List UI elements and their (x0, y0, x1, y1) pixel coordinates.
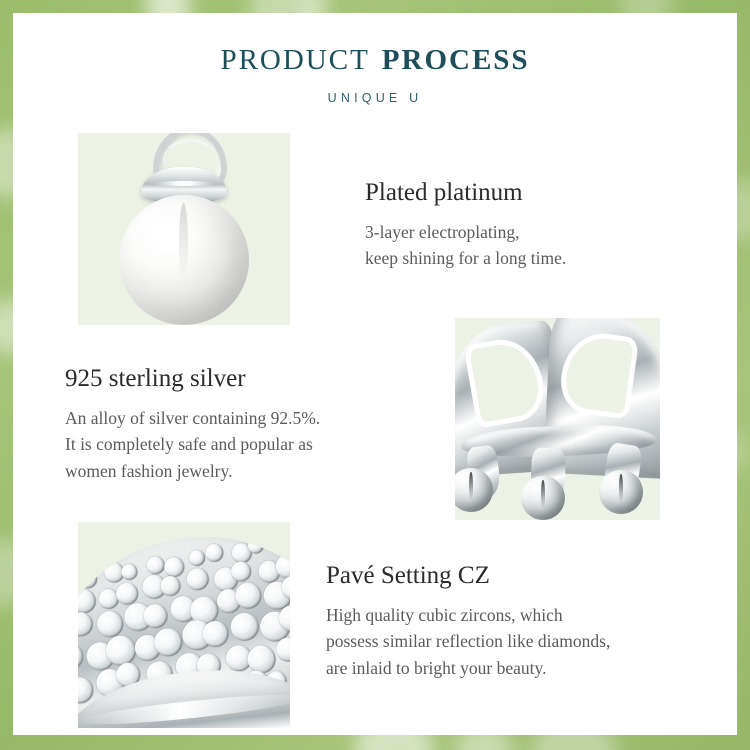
feature-body-line: women fashion jewelry. (65, 458, 320, 485)
page-title-product: PRODUCT (220, 44, 369, 76)
feature-body-line: It is completely safe and popular as (65, 431, 320, 458)
feature-image-sterling-silver (455, 318, 660, 520)
cz-stone (188, 549, 207, 568)
feature-text-plated-platinum: Plated platinum 3-layer electroplating, … (365, 179, 566, 272)
cz-stone (163, 555, 186, 578)
product-process-infographic: PRODUCTPROCESS UNIQUE U (0, 0, 750, 750)
feature-body-line: An alloy of silver containing 92.5%. (65, 405, 320, 432)
pave-artwork (78, 522, 290, 728)
charm-bead-left-shape (455, 468, 493, 512)
charm-bead-middle-shape (521, 476, 565, 520)
charm-bead-right-shape (599, 470, 643, 514)
feature-body-line: possess similar reflection like diamonds… (326, 628, 610, 655)
cz-stone (78, 569, 99, 590)
pearl-shape (119, 195, 249, 325)
page-title: PRODUCTPROCESS (13, 46, 737, 75)
cz-stone (273, 535, 290, 556)
feature-heading: 925 sterling silver (65, 365, 320, 393)
cz-stone (120, 563, 139, 582)
feature-heading: Pavé Setting CZ (326, 562, 610, 590)
cz-stone (145, 555, 166, 576)
feature-body-line: keep shining for a long time. (365, 245, 566, 272)
cz-stone (185, 566, 210, 591)
feature-body-line: High quality cubic zircons, which (326, 602, 610, 629)
feature-image-pave-setting-cz (78, 522, 290, 728)
feature-body-line: 3-layer electroplating, (365, 219, 566, 246)
feature-body-line: are inlaid to bright your beauty. (326, 655, 610, 682)
cz-stone (228, 611, 260, 643)
content-card: PRODUCTPROCESS UNIQUE U (13, 13, 737, 735)
feature-heading: Plated platinum (365, 179, 566, 207)
cz-stone (78, 610, 95, 638)
header: PRODUCTPROCESS UNIQUE U (13, 13, 737, 105)
feature-image-plated-platinum (78, 133, 290, 325)
page-title-process: PROCESS (382, 44, 530, 76)
page-subtitle: UNIQUE U (13, 91, 737, 105)
cz-stone (204, 542, 225, 563)
feature-text-sterling-silver: 925 sterling silver An alloy of silver c… (65, 365, 320, 484)
feature-text-pave-setting-cz: Pavé Setting CZ High quality cubic zirco… (326, 562, 610, 681)
cz-stone (78, 641, 85, 671)
silver-charm-artwork (455, 318, 660, 520)
